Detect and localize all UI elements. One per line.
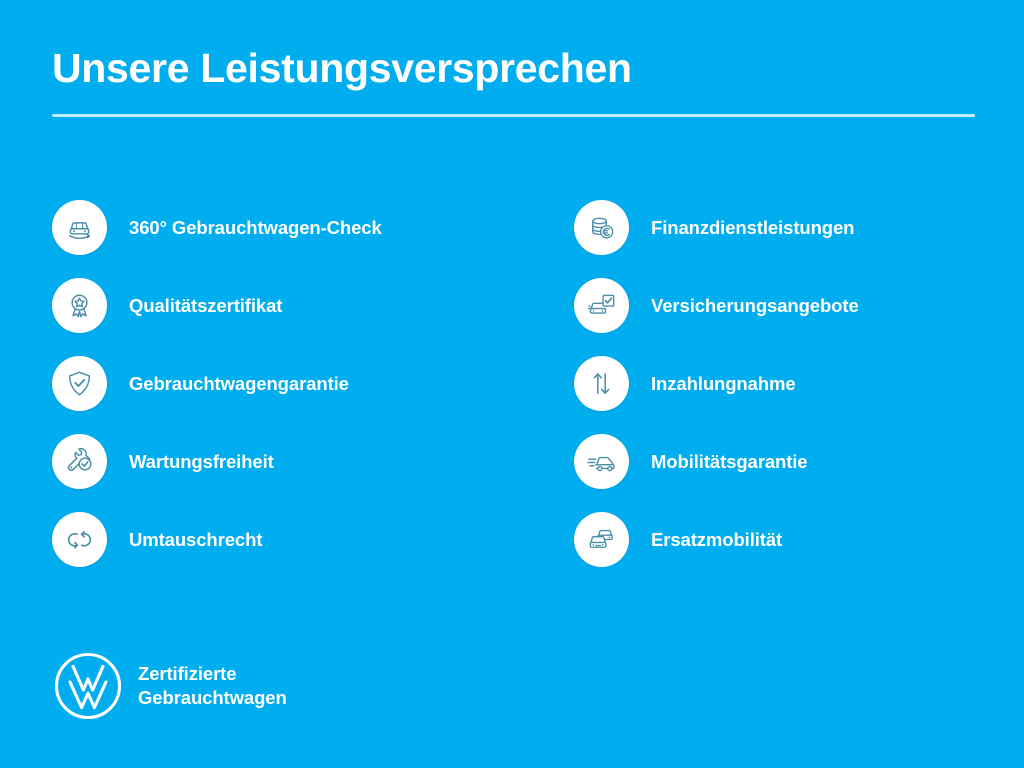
brand-footer: Zertifizierte Gebrauchtwagen — [52, 650, 287, 722]
car-document-check-icon — [574, 278, 629, 333]
benefit-item-umtauschrecht[interactable]: Umtauschrecht — [52, 512, 574, 567]
benefit-item-inzahlungnahme[interactable]: Inzahlungnahme — [574, 356, 992, 411]
header: Unsere Leistungsversprechen — [52, 46, 976, 117]
benefit-item-mobilitaetsgarantie[interactable]: Mobilitätsgarantie — [574, 434, 992, 489]
benefit-item-qualitaetszertifikat[interactable]: Qualitätszertifikat — [52, 278, 574, 333]
car-motion-icon — [574, 434, 629, 489]
benefit-label: Umtauschrecht — [129, 529, 262, 551]
coins-euro-icon — [574, 200, 629, 255]
brand-line-2: Gebrauchtwagen — [138, 687, 287, 708]
benefit-label: Mobilitätsgarantie — [651, 451, 808, 473]
award-rosette-icon — [52, 278, 107, 333]
brand-text: Zertifizierte Gebrauchtwagen — [138, 662, 287, 711]
two-cars-icon — [574, 512, 629, 567]
benefits-grid: 360° Gebrauchtwagen-Check Qualitätszerti… — [52, 200, 992, 567]
exchange-arrows-icon — [52, 512, 107, 567]
benefit-label: Wartungsfreiheit — [129, 451, 274, 473]
benefits-right-column: Finanzdienstleistungen Versicherungsange… — [574, 200, 992, 567]
benefits-left-column: 360° Gebrauchtwagen-Check Qualitätszerti… — [52, 200, 574, 567]
brand-line-1: Zertifizierte — [138, 663, 236, 684]
benefit-item-360-check[interactable]: 360° Gebrauchtwagen-Check — [52, 200, 574, 255]
up-down-arrows-icon — [574, 356, 629, 411]
benefit-item-wartungsfreiheit[interactable]: Wartungsfreiheit — [52, 434, 574, 489]
benefit-label: Finanzdienstleistungen — [651, 217, 854, 239]
benefit-label: Qualitätszertifikat — [129, 295, 282, 317]
benefit-item-finanzdienstleistungen[interactable]: Finanzdienstleistungen — [574, 200, 992, 255]
title-divider — [52, 114, 975, 117]
benefit-label: Gebrauchtwagengarantie — [129, 373, 349, 395]
car-360-check-icon — [52, 200, 107, 255]
benefit-item-ersatzmobilitaet[interactable]: Ersatzmobilität — [574, 512, 992, 567]
volkswagen-logo — [52, 650, 124, 722]
page-title: Unsere Leistungsversprechen — [52, 46, 976, 92]
benefit-item-gebrauchtwagengarantie[interactable]: Gebrauchtwagengarantie — [52, 356, 574, 411]
benefit-label: Versicherungsangebote — [651, 295, 859, 317]
benefit-label: Ersatzmobilität — [651, 529, 782, 551]
leistungsversprechen-page: Unsere Leistungsversprechen — [0, 0, 1024, 768]
shield-check-icon — [52, 356, 107, 411]
wrench-check-icon — [52, 434, 107, 489]
benefit-label: 360° Gebrauchtwagen-Check — [129, 217, 382, 239]
benefit-label: Inzahlungnahme — [651, 373, 796, 395]
benefit-item-versicherungsangebote[interactable]: Versicherungsangebote — [574, 278, 992, 333]
